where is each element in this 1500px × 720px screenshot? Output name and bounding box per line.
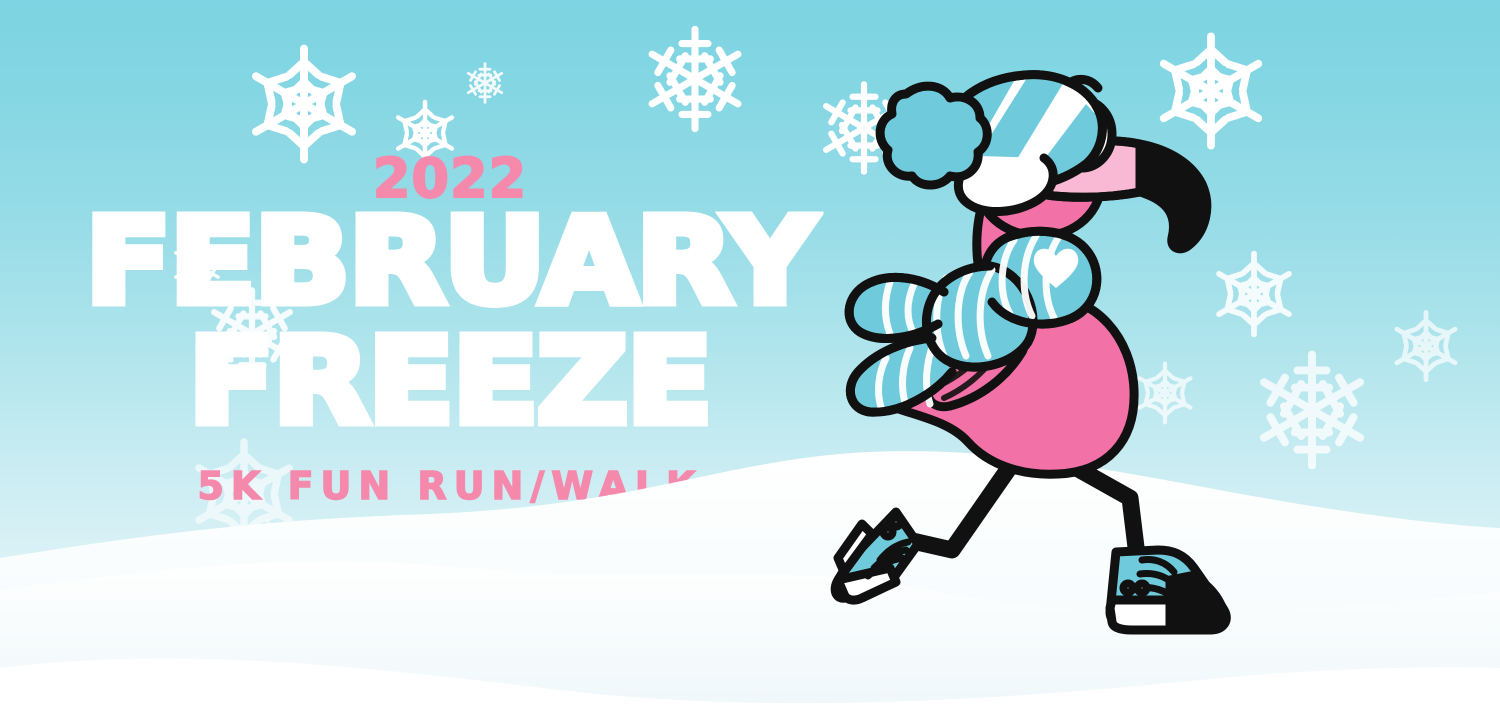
right-sneaker bbox=[1110, 550, 1226, 630]
headline-line-2: FREEZE bbox=[0, 330, 927, 434]
left-sneaker bbox=[835, 512, 918, 600]
flamingo-illustration bbox=[810, 60, 1290, 630]
pompom bbox=[880, 86, 987, 185]
event-banner: 2022 FEBRUARY FREEZE 5K FUN RUN/WALK bbox=[0, 0, 1500, 720]
headline-line-1: FEBRUARY bbox=[0, 210, 927, 314]
